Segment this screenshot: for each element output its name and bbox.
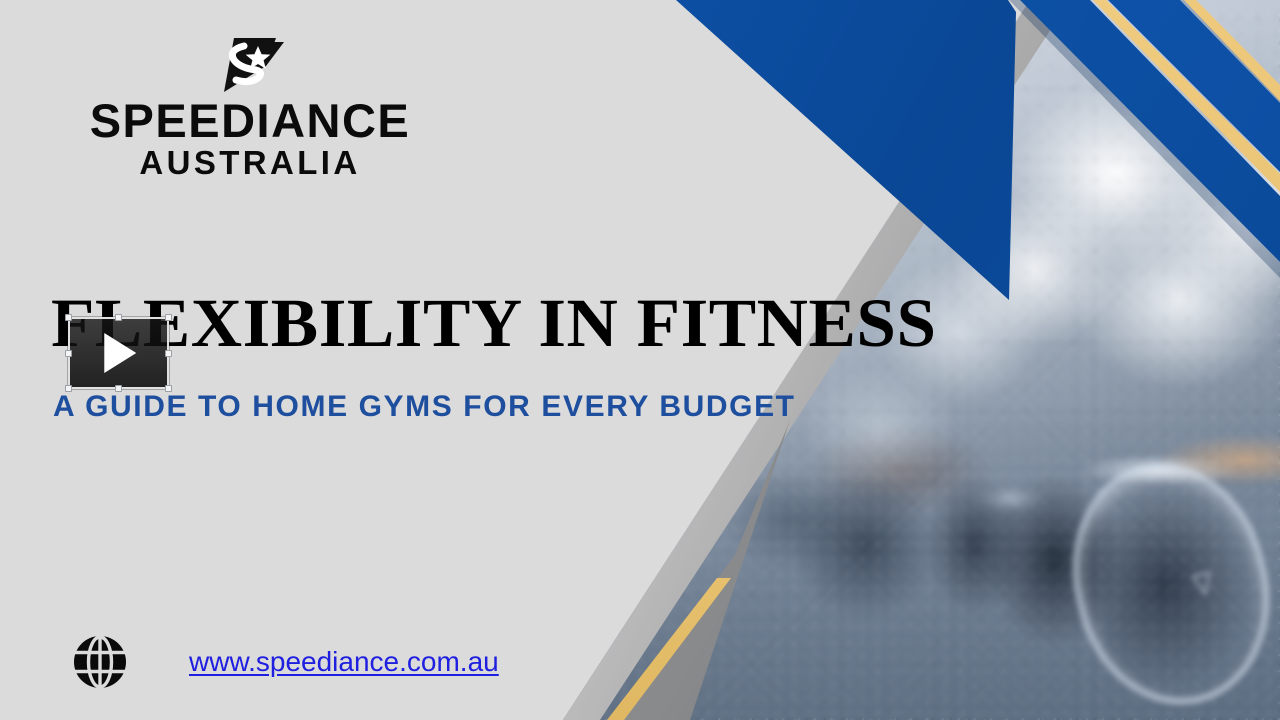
website-link[interactable]: www.speediance.com.au [189, 646, 499, 678]
resize-handle-bottom-left[interactable] [65, 385, 72, 392]
footer-website: www.speediance.com.au [72, 634, 499, 690]
speediance-s-star-mark-icon [214, 36, 286, 94]
resize-handle-bottom-right[interactable] [165, 385, 172, 392]
brand-logo: SPEEDIANCE AUSTRALIA [74, 36, 426, 182]
page-title: FLEXIBILITY IN FITNESS [51, 288, 937, 358]
video-placeholder[interactable] [68, 317, 169, 389]
page-subtitle: A GUIDE TO HOME GYMS FOR EVERY BUDGET [53, 390, 796, 423]
resize-handle-middle-left[interactable] [65, 350, 72, 357]
logo-brand-name: SPEEDIANCE [74, 98, 426, 144]
globe-icon [72, 634, 128, 690]
resize-handle-top-center[interactable] [115, 314, 122, 321]
presentation-slide: SPEEDIANCE AUSTRALIA FLEXIBILITY IN FITN… [0, 0, 1280, 720]
resize-handle-top-left[interactable] [65, 314, 72, 321]
resize-handle-top-right[interactable] [165, 314, 172, 321]
resize-handle-bottom-center[interactable] [115, 385, 122, 392]
play-triangle-icon[interactable] [104, 333, 136, 373]
logo-region-name: AUSTRALIA [74, 144, 426, 182]
resize-handle-middle-right[interactable] [165, 350, 172, 357]
